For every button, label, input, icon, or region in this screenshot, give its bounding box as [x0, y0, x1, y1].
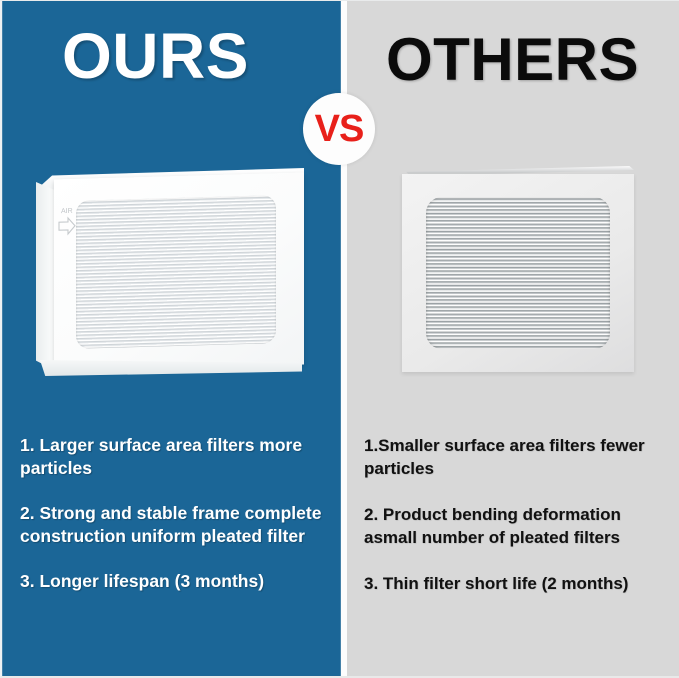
- comparison-infographic: OURS AIR 1. Larger surface area filters …: [0, 0, 679, 678]
- ours-benefit-list: 1. Larger surface area filters more part…: [20, 434, 336, 593]
- list-item: 3. Longer lifespan (3 months): [20, 570, 336, 593]
- ours-title: OURS: [62, 24, 249, 88]
- airflow-arrow-icon: AIR: [56, 204, 78, 245]
- ours-filter-pleats: [76, 195, 276, 349]
- list-item: 3. Thin filter short life (2 months): [364, 572, 668, 595]
- others-title: OTHERS: [386, 30, 639, 90]
- svg-text:AIR: AIR: [61, 208, 73, 215]
- list-item: 1.Smaller surface area filters fewer par…: [364, 434, 668, 481]
- others-panel: OTHERS 1.Smaller surface area filters fe…: [347, 0, 679, 678]
- list-item: 1. Larger surface area filters more part…: [20, 434, 336, 480]
- list-item: 2. Product bending deformation asmall nu…: [364, 503, 668, 550]
- list-item: 2. Strong and stable frame complete cons…: [20, 502, 336, 548]
- others-drawback-list: 1.Smaller surface area filters fewer par…: [364, 434, 668, 595]
- vs-label: VS: [315, 110, 364, 148]
- left-frame-line: [0, 0, 2, 678]
- vs-badge: VS: [303, 93, 375, 165]
- ours-filter-image: AIR: [36, 168, 304, 376]
- top-frame-line: [0, 0, 679, 1]
- ours-panel: OURS AIR 1. Larger surface area filters …: [2, 0, 341, 678]
- others-filter-image: [402, 166, 634, 372]
- others-filter-pleats: [426, 197, 610, 349]
